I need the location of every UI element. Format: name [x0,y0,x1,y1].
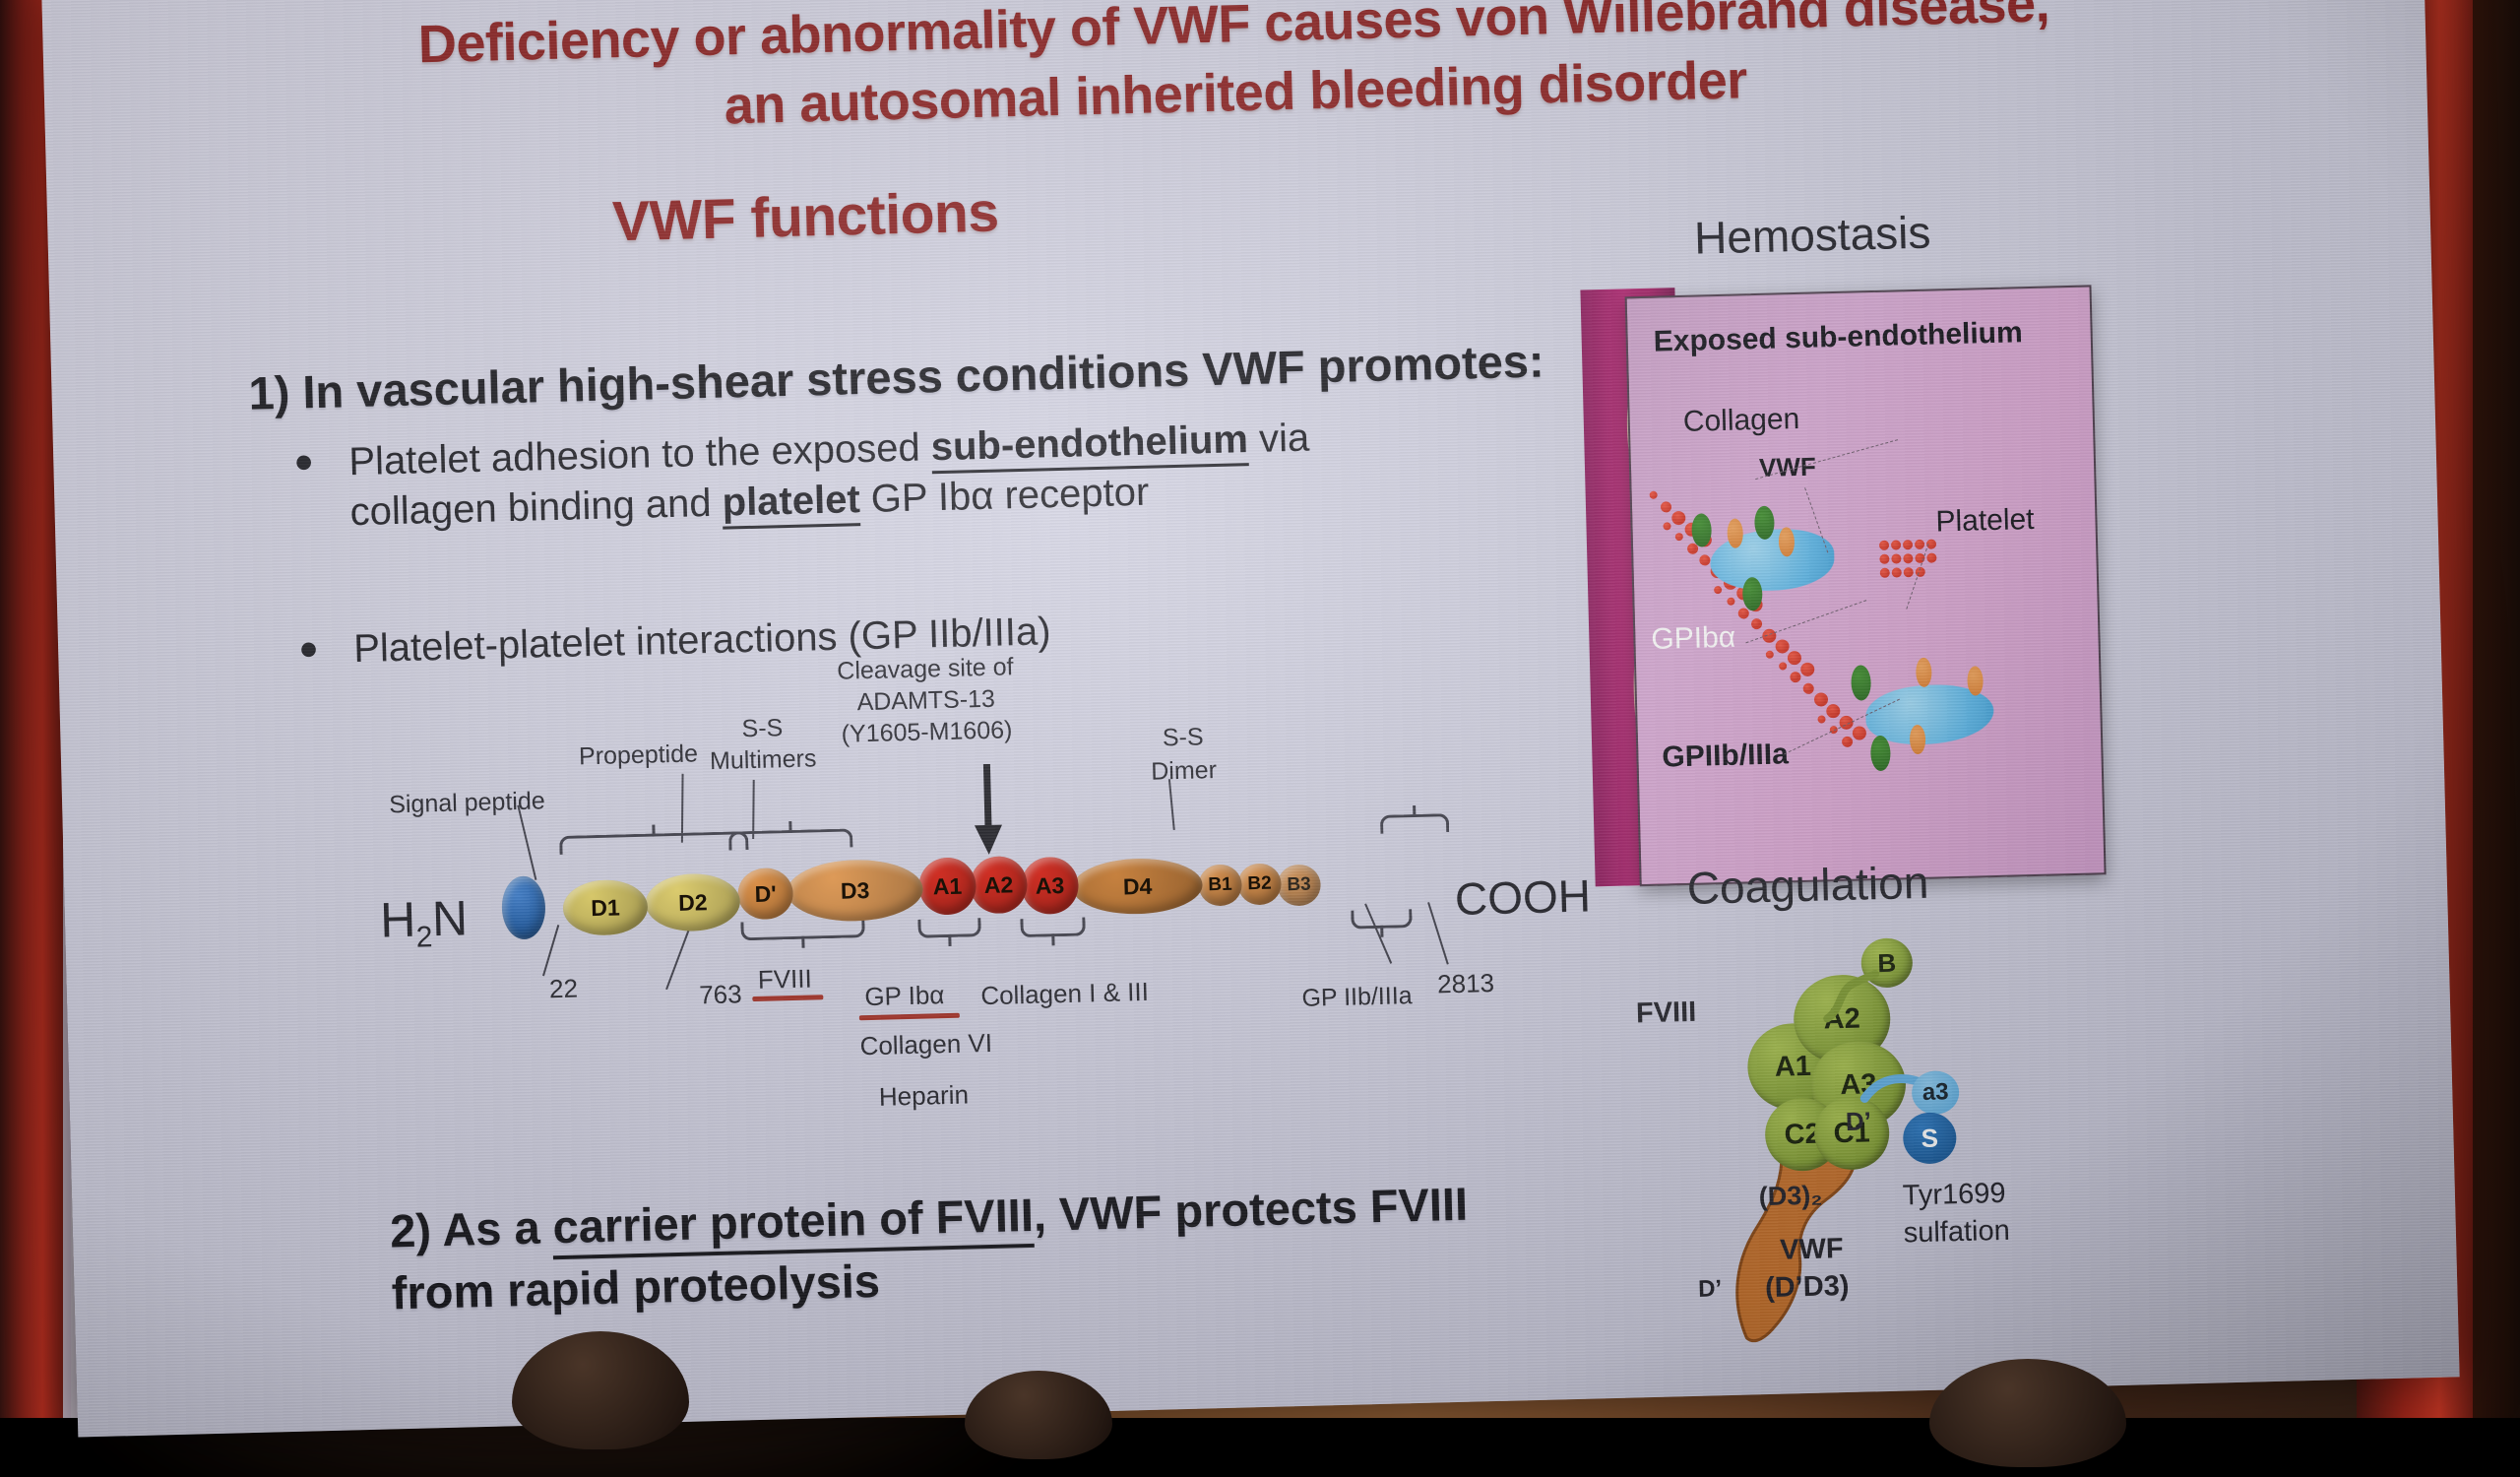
leader-line-signal-peptide [517,805,536,880]
bullet-item-1: ● Platelet adhesion to the exposed sub-e… [348,409,1473,538]
collagen-bead [1903,540,1913,549]
point-2-text-post: , VWF protects FVIII [1033,1178,1469,1241]
c-terminus-label: COOH [1454,868,1591,925]
bullet-1-text-c: collagen binding and [349,482,723,535]
gpiibiiia-receptor-2 [1779,527,1795,556]
vwf-domain-d: D' [737,867,793,920]
gpiba-receptor-1 [1691,513,1712,546]
collagen-bead [1903,553,1913,563]
vwf-domain-b2: B2 [1237,863,1282,905]
dark-edge-right [2473,0,2520,1418]
collagen-bead [1815,694,1826,705]
collagen-bead [1779,662,1787,670]
brace-collagen-binding [1020,917,1085,937]
label-exposed-sub-endothelium: Exposed sub-endothelium [1653,316,2023,358]
point-2-text-line2: from rapid proteolysis [391,1254,880,1319]
bullet-1-text-d: GP Ib [859,475,972,521]
underline-fviii [752,995,823,1001]
projection-screen: Deficiency or abnormality of VWF causes … [41,0,2460,1459]
gpiibiiia-receptor-4 [1967,666,1984,695]
label-signal-peptide: Signal peptide [389,787,545,819]
collagen-bead [1926,552,1936,562]
collagen-bead [1714,586,1722,594]
label-gpiba: GPIbα [1651,621,1736,657]
label-vwf-dd3: (D’D3) [1765,1270,1850,1305]
collagen-bead [1727,598,1734,606]
collagen-bead [1800,662,1814,675]
residue-number-end: 2813 [1437,968,1495,999]
vwf-domain-b3: B3 [1277,864,1321,906]
label-dprime-top: D’ [1845,1106,1871,1137]
bullet-marker-icon: ● [298,627,320,671]
label-cleavage-line3: (Y1605-M1606) [779,715,1075,751]
hemostasis-title: Hemostasis [1693,206,1931,265]
vwf-domain-d2: D2 [645,872,740,931]
vwf-domain-diagram: Signal peptide Propeptide S-S Multimers … [433,655,1508,1154]
vwf-domain-d3: D3 [787,859,924,923]
collagen-bead [1663,522,1670,530]
label-ss-dimer-line2: Dimer [1124,755,1243,787]
brace-gpiibiiia-binding [1351,909,1412,930]
point-1-heading: 1) In vascular high-shear stress conditi… [248,333,1558,420]
bullet-1-alpha-symbol: α [971,475,994,519]
bullet-1-text-a: Platelet adhesion to the exposed [348,425,931,483]
leader-line-residue-22 [542,925,559,976]
brace-fviii-binding [740,919,864,940]
bullet-1-text-e: receptor [993,471,1150,518]
collagen-bead [1879,554,1889,564]
gpiba-receptor-4 [1851,665,1871,700]
label-cleavage-line2: ADAMTS-13 [778,683,1074,720]
collagen-bead [1777,641,1788,652]
vwf-domain-c1: C1 [1316,863,1364,909]
underline-gpiba [859,1013,960,1021]
collagen-bead [1891,540,1901,549]
collagen-bead [1766,651,1774,659]
collagen-bead [1650,491,1658,499]
collagen-bead [1661,501,1671,512]
label-binding-collagen-i-iii: Collagen I & III [980,977,1149,1011]
collagen-bead [1880,568,1890,578]
collagen-bead [1701,555,1709,563]
leader-line-2813 [1427,902,1449,965]
domain-n-terminal-marker [501,875,546,939]
label-platelet: Platelet [1935,503,2035,540]
cleavage-arrow-icon [967,763,1008,855]
vwf-domain-a3: A3 [1021,857,1079,915]
collagen-bead [1892,567,1902,577]
label-ss-dimer-line1: S-S [1123,722,1242,753]
brace-gpiba-binding [917,918,980,938]
vwf-domain-a2: A2 [970,856,1028,914]
brace-propeptide [559,831,748,855]
slide-subtitle: VWF functions [165,168,1446,266]
fviii-b-linker [1820,956,1901,1037]
label-cleavage-line1: Cleavage site of [778,652,1074,688]
label-d3-repeat: (D3)₂ [1758,1181,1822,1213]
leader-dash-gpiba [1745,600,1866,643]
label-vwf-coag: VWF [1780,1233,1844,1267]
hemostasis-illustration: Exposed sub-endothelium Collagen VWF Pla… [1625,285,2107,886]
vwf-domain-a1: A1 [918,857,976,915]
bullet-marker-icon: ● [293,440,315,483]
collagen-bead [1817,715,1825,723]
coagulation-title: Coagulation [1686,856,1929,915]
label-binding-fviii: FVIII [757,964,812,995]
bullet-1-emphasis-platelet: platelet [722,478,860,530]
point-2-heading: 2) As a carrier protein of FVIII, VWF pr… [389,1168,1671,1325]
collagen-fibril-chain [1627,287,2090,298]
label-dprime-bottom: D’ [1698,1275,1723,1304]
collagen-bead [1891,553,1901,563]
label-tyr1699: Tyr1699 [1902,1178,2006,1213]
gpiba-receptor-5 [1870,736,1891,771]
label-fviii: FVIII [1636,996,1697,1031]
vwf-domain-d4: D4 [1072,857,1203,915]
label-gpiibiiia: GPIIb/IIIa [1662,738,1789,774]
presentation-slide: Deficiency or abnormality of VWF causes … [41,0,2460,1438]
collagen-bead [1915,540,1924,549]
collagen-bead [1739,609,1747,616]
coagulation-illustration: A1 A2 A3 C2 C1 B a3 S FVIII D’ (D3)₂ D’ … [1626,924,2149,1370]
point-2-text-pre: 2) As a [390,1200,554,1256]
residue-number-start: 22 [549,974,579,1005]
label-binding-collagen-vi: Collagen VI [859,1028,992,1061]
label-binding-gpiibiiia: GP IIb/IIIa [1301,982,1413,1013]
bullet-1-emphasis-sub-endothelium: sub-endothelium [930,417,1248,474]
vwf-domain-d1: D1 [562,879,648,936]
gpiibiiia-receptor-5 [1910,725,1926,754]
n-terminus-label: H2N [379,889,469,955]
gpiibiiia-receptor-1 [1727,518,1743,547]
label-collagen: Collagen [1682,403,1799,439]
leader-line-ss-dimer [1168,779,1175,830]
point-2-emphasis-carrier-protein: carrier protein of FVIII [552,1188,1035,1259]
collagen-bead [1788,651,1801,665]
collagen-bead [1852,727,1865,740]
collagen-bead [1904,567,1914,577]
label-binding-gpiba: GP Ibα [864,980,945,1012]
collagen-bead [1879,541,1889,550]
brace-ss-dimer [1380,813,1449,834]
label-vwf: VWF [1759,452,1817,483]
bullet-1-text-b: via [1247,417,1309,462]
label-sulfation: sulfation [1903,1215,2010,1251]
gpiibiiia-receptor-3 [1916,658,1932,687]
residue-number-propeptide-end: 763 [699,979,742,1010]
vwf-domain-b1: B1 [1198,864,1242,906]
label-binding-heparin: Heparin [879,1080,970,1113]
collagen-bead [1675,533,1683,541]
label-propeptide: Propeptide [579,739,699,771]
brace-ss-multimers [728,828,852,850]
